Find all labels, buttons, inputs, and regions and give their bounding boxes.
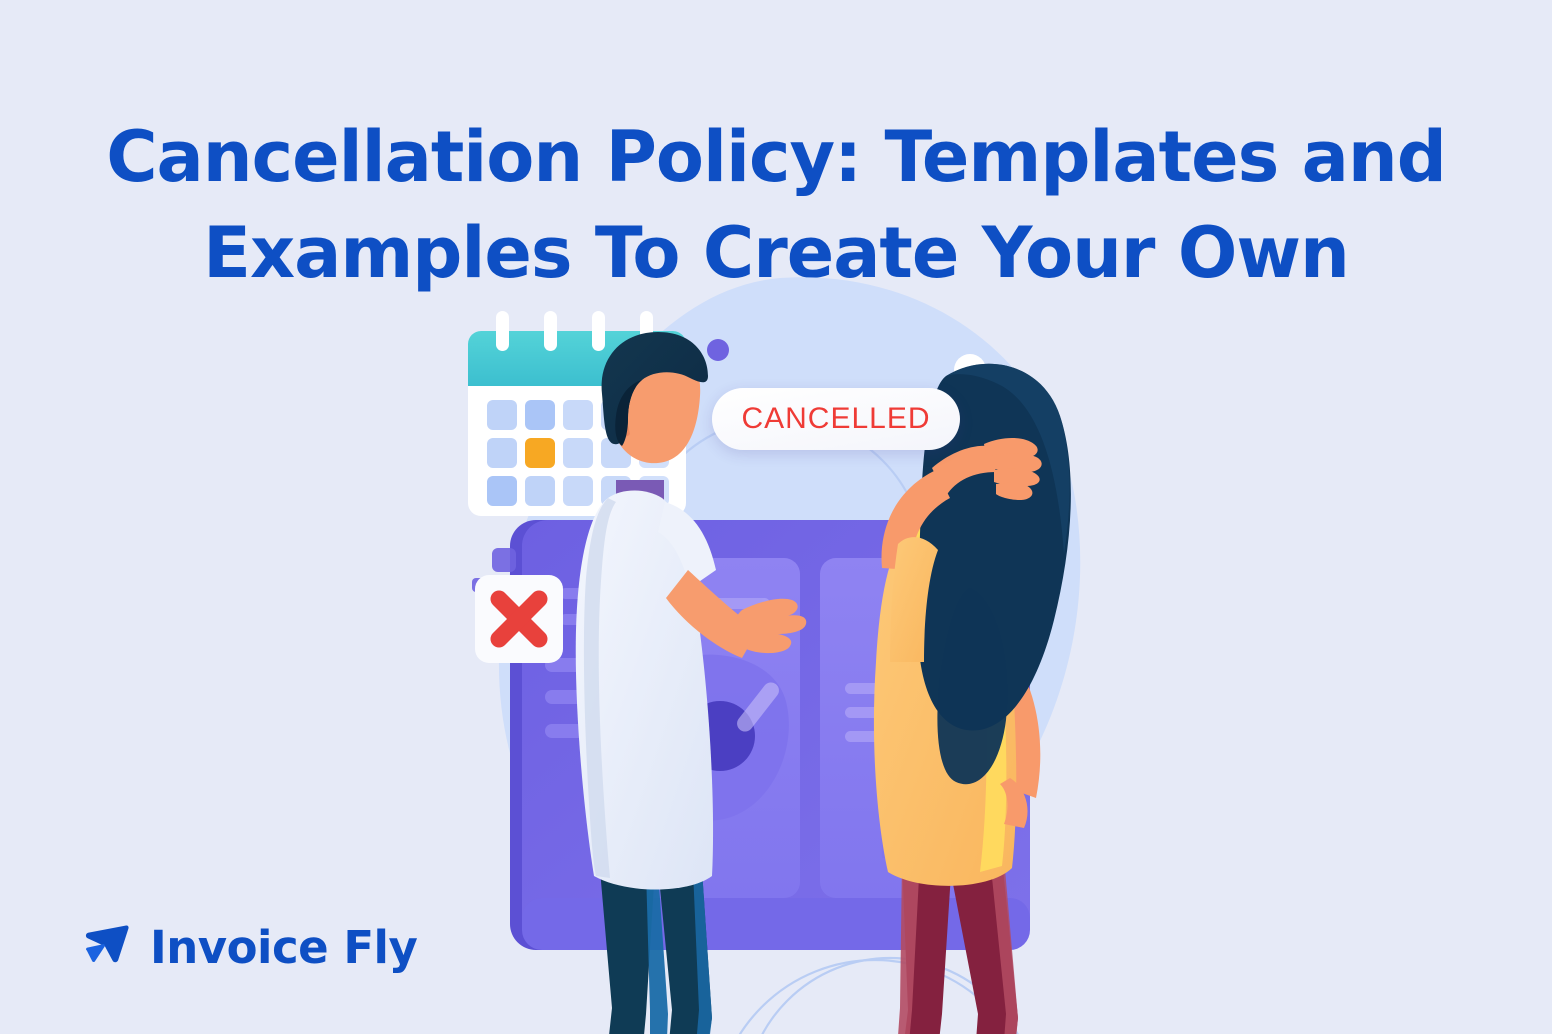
brand-logo[interactable]: Invoice Fly xyxy=(78,920,417,974)
status-badge-cancelled: CANCELLED xyxy=(712,388,960,450)
illustration xyxy=(450,258,1120,928)
dot-purple-top xyxy=(707,339,729,361)
brand-name: Invoice Fly xyxy=(150,925,417,970)
poster-canvas: Cancellation Policy: Templates and Examp… xyxy=(0,0,1552,1034)
calendar-cell-highlight xyxy=(525,438,555,468)
error-card xyxy=(475,575,563,663)
page-title-line-1: Cancellation Policy: Templates and xyxy=(0,109,1552,205)
status-badge-label: CANCELLED xyxy=(741,402,930,436)
paper-plane-icon xyxy=(78,920,132,974)
